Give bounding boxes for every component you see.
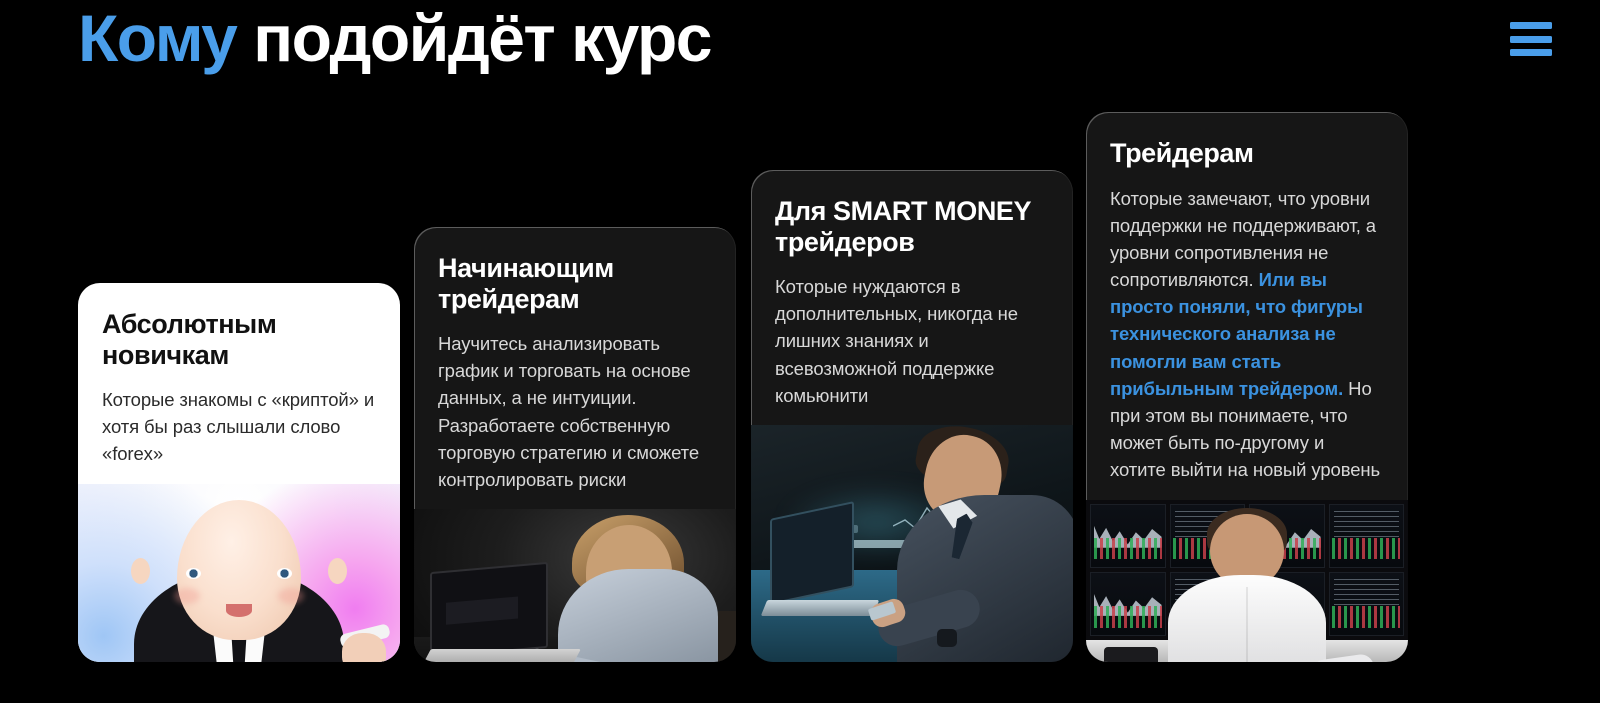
hamburger-menu-icon[interactable] — [1510, 22, 1552, 56]
monitor-5 — [1090, 572, 1166, 636]
monitor-4 — [1329, 504, 1405, 568]
audience-card-beginner-traders[interactable]: Начинающим трейдерам Научитесь анализиро… — [414, 227, 736, 662]
card-body: Трейдерам Которые замечают, что уровни п… — [1086, 112, 1408, 500]
baby-ear-left — [131, 558, 150, 584]
card-text-part-1: Которые замечают, что уровни поддержки н… — [1110, 188, 1376, 291]
page-title-accent: Кому — [78, 1, 236, 75]
audience-card-absolute-beginners[interactable]: Абсолютным новичкам Которые знакомы с «к… — [78, 283, 400, 662]
card-text: Которые замечают, что уровни поддержки н… — [1110, 185, 1384, 484]
baby-cheek-left — [174, 588, 200, 604]
hamburger-bar-1 — [1510, 22, 1552, 29]
laptop-screen-shape — [430, 562, 548, 658]
card-title: Абсолютным новичкам — [102, 309, 376, 370]
monitor-8 — [1329, 572, 1405, 636]
trader-monitor-wall-photo — [1086, 500, 1408, 662]
page-title: Кому подойдёт курс — [78, 6, 778, 70]
card-title: Для SMART MONEY трейдеров — [775, 196, 1049, 257]
card-title: Трейдерам — [1110, 138, 1384, 169]
card-body: Для SMART MONEY трейдеров Которые нуждаю… — [751, 170, 1073, 425]
card-text: Которые нуждаются в дополнительных, нико… — [775, 273, 1049, 409]
baby-eye-left — [186, 568, 201, 579]
audience-card-traders[interactable]: Трейдерам Которые замечают, что уровни п… — [1086, 112, 1408, 662]
card-text: Научитесь анализировать график и торгова… — [438, 330, 712, 493]
audience-card-smart-money-traders[interactable]: Для SMART MONEY трейдеров Которые нуждаю… — [751, 170, 1073, 662]
laptop-base-shape — [761, 600, 879, 616]
trader-shirt-shape — [1168, 575, 1326, 662]
baby-in-suit-photo — [78, 484, 400, 662]
baby-eye-right — [277, 568, 292, 579]
baby-ear-right — [328, 558, 347, 584]
businessman-with-phone-photo — [751, 425, 1073, 662]
card-body: Абсолютным новичкам Которые знакомы с «к… — [78, 283, 400, 484]
page-title-rest: подойдёт курс — [236, 1, 711, 75]
desk-phone-shape — [1104, 647, 1158, 662]
baby-hand-shape — [342, 633, 386, 662]
card-text: Которые знакомы с «криптой» и хотя бы ра… — [102, 386, 376, 468]
hamburger-bar-3 — [1510, 49, 1552, 56]
page-root: Кому подойдёт курс Абсолютным новичкам К… — [0, 0, 1600, 703]
baby-mouth-shape — [226, 604, 252, 617]
hamburger-bar-2 — [1510, 36, 1552, 43]
laptop-screen-shape — [770, 501, 854, 605]
teen-at-laptop-photo — [414, 509, 736, 662]
wristwatch-shape — [937, 629, 957, 647]
monitor-1 — [1090, 504, 1166, 568]
card-title: Начинающим трейдерам — [438, 253, 712, 314]
laptop-base-shape — [417, 649, 581, 662]
card-body: Начинающим трейдерам Научитесь анализиро… — [414, 227, 736, 509]
baby-cheek-right — [278, 588, 304, 604]
